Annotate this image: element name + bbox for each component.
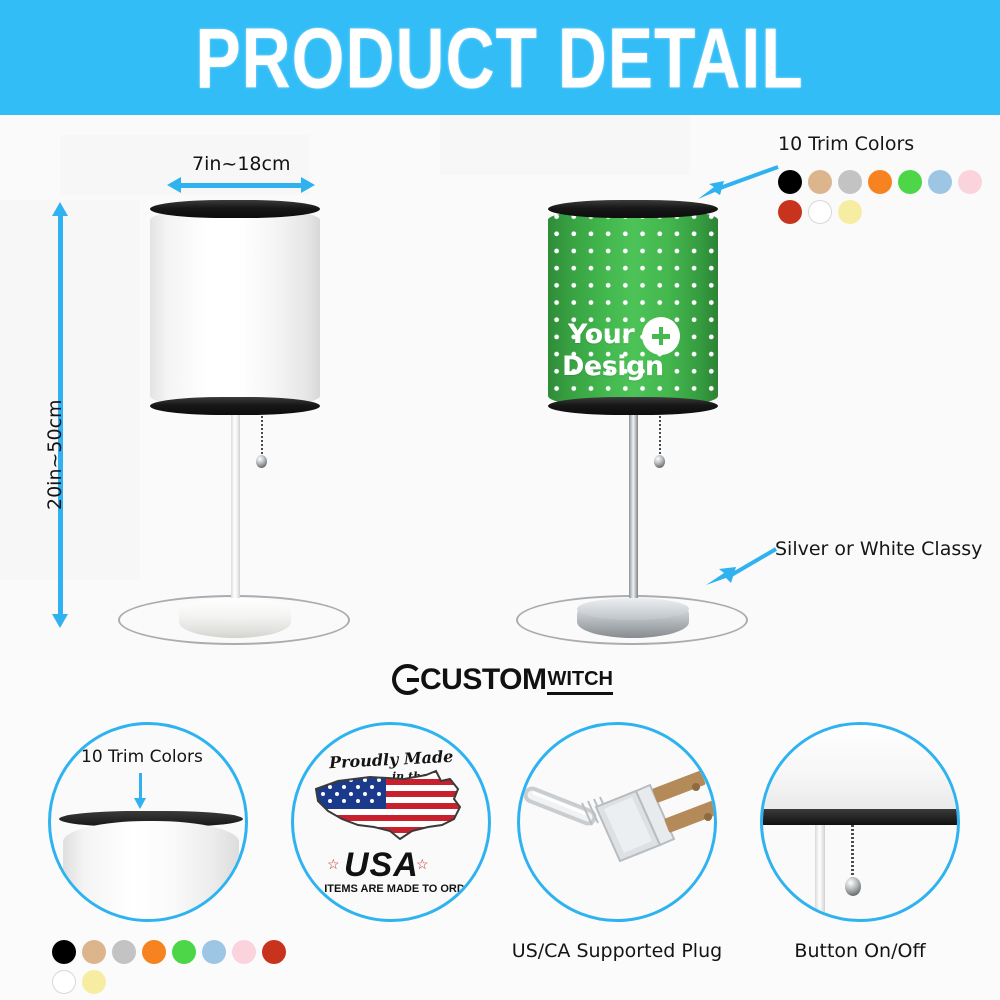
shade-surface [150,208,320,408]
design-line-1: Your [568,320,634,350]
trim-down-arrow [139,773,142,799]
logo-c-icon [392,664,423,695]
bg-patch [0,200,140,580]
trim-callout-arrow [690,161,790,209]
trim-colors-title: 10 Trim Colors [778,133,914,155]
usa-flag-map-icon [308,767,480,845]
lamp-stem-closeup [815,825,825,922]
power-plug-icon [524,759,716,889]
shade-trim-top [150,200,320,218]
trim-color-swatches[interactable] [778,170,1000,224]
pull-chain-ball[interactable] [256,455,267,468]
usa-badge-line4: ALL ITEMS ARE MADE TO ORDER! [300,883,484,895]
trim-swatch-white[interactable] [808,200,832,224]
header-banner: PRODUCT DETAIL [0,0,1000,115]
shade-trim-bottom [548,397,718,415]
usa-star-left: ☆ [327,856,340,873]
base-finish-label: Silver or White Classy [775,538,982,560]
shade-closeup-surface [63,821,239,922]
feature-trim-colors: 10 Trim Colors [48,722,248,922]
trim-swatch-tan[interactable] [82,940,106,964]
lamp-base-top [179,598,291,620]
trim-swatch-tan[interactable] [808,170,832,194]
trim-swatch-gray[interactable] [112,940,136,964]
pull-chain-ball-closeup[interactable] [845,877,861,896]
lamp-shade: Your Design [548,200,718,415]
trim-swatch-black[interactable] [52,940,76,964]
usa-star-right: ☆ [416,856,429,873]
design-line-2: Design [562,352,664,382]
usa-badge-line3: USA [344,846,419,885]
shade-trim-bottom [150,397,320,415]
feature-switch [760,722,960,922]
pull-chain-closeup[interactable] [851,825,854,883]
lamp-shade [150,200,320,415]
feature-plug-caption: US/CA Supported Plug [507,940,727,962]
logo-primary: CUSTOM [420,665,546,695]
lamp-stem [629,415,638,620]
trim-swatch-pink[interactable] [958,170,982,194]
trim-swatch-lightblue[interactable] [928,170,952,194]
trim-swatch-green[interactable] [898,170,922,194]
trim-swatch-yellow[interactable] [82,970,106,994]
trim-color-swatches-bottom[interactable] [52,940,304,994]
feature-made-in-usa: Proudly Made in the [291,722,491,922]
logo-secondary: WITCH [547,667,613,695]
brand-logo: CUSTOM WITCH [392,664,613,695]
trim-swatch-green[interactable] [172,940,196,964]
page-title: PRODUCT DETAIL [196,9,804,107]
bg-patch [440,115,690,175]
lamp-base [179,598,291,638]
trim-swatch-yellow[interactable] [838,200,862,224]
trim-swatch-gray[interactable] [838,170,862,194]
trim-swatch-red[interactable] [262,940,286,964]
width-measure-arrow [180,183,302,188]
trim-swatch-orange[interactable] [868,170,892,194]
feature-trim-colors-title: 10 Trim Colors [81,747,203,767]
feature-switch-caption: Button On/Off [750,940,970,962]
main-stage: 7in~18cm 20in~50cm [0,115,1000,660]
feature-plug [517,722,717,922]
trim-swatch-lightblue[interactable] [202,940,226,964]
shade-bottom-closeup [763,725,960,811]
plus-circle-icon[interactable] [642,317,680,355]
lamp-base [577,598,689,638]
pull-chain-ball[interactable] [654,455,665,468]
lamp-base-top [577,598,689,620]
trim-swatch-pink[interactable] [232,940,256,964]
trim-ring-closeup [760,809,960,825]
pull-chain[interactable] [659,416,661,458]
trim-swatch-white[interactable] [52,970,76,994]
base-finish-callout-arrow [700,533,790,593]
height-measure-label: 20in~50cm [44,399,66,510]
width-measure-label: 7in~18cm [192,153,290,175]
trim-swatch-orange[interactable] [142,940,166,964]
product-detail-page: PRODUCT DETAIL 7in~18cm 20in~50cm [0,0,1000,1000]
pull-chain[interactable] [261,416,263,458]
lamp-stem [231,415,240,620]
